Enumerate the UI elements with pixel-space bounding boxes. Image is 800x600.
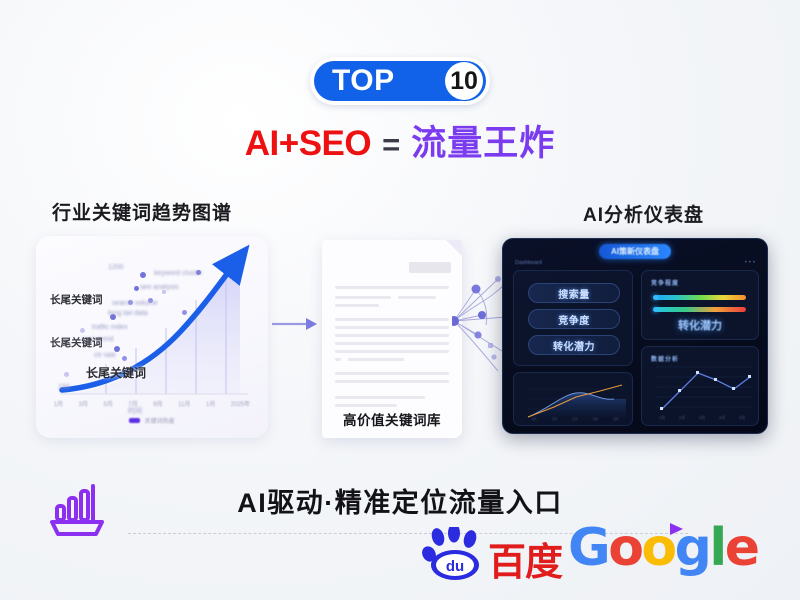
doc-bullet bbox=[335, 358, 341, 361]
scatter-dot bbox=[140, 272, 146, 278]
keyword-label: 长尾关键词 bbox=[50, 335, 103, 350]
dashboard-section-title: AI分析仪表盘 bbox=[583, 200, 704, 227]
x-tick: 5月 bbox=[104, 399, 113, 408]
x-tick: 2025年 bbox=[231, 399, 250, 408]
scatter-dot bbox=[64, 372, 69, 377]
blurred-chart-text: search volume bbox=[112, 300, 158, 307]
google-letter-e: e bbox=[725, 518, 758, 578]
gauge-panel-title: 竞争程度 bbox=[651, 278, 679, 287]
x-tick: 1月 bbox=[54, 399, 63, 408]
gauge-marker-dot bbox=[653, 295, 658, 300]
gauge-marker-dot bbox=[653, 307, 658, 312]
area-chart-panel: Q1 Q2 Q3 Q4 Q5 bbox=[513, 372, 633, 426]
x-tick: 3月 bbox=[699, 415, 705, 421]
blurred-chart-text: 150 bbox=[58, 384, 70, 391]
google-letter-o1: o bbox=[608, 518, 641, 578]
top-badge-number: 10 bbox=[445, 62, 483, 100]
x-tick: Q2 bbox=[552, 416, 557, 421]
top-badge-label: TOP bbox=[332, 66, 395, 96]
doc-text-line bbox=[335, 286, 449, 289]
trend-line-panel: 数据分析 1月 2月 3月 4月 5月 bbox=[641, 346, 759, 426]
competition-gauge-panel: 竞争程度 转化潜力 bbox=[641, 270, 759, 340]
legend-swatch bbox=[129, 418, 140, 423]
doc-text-line bbox=[348, 358, 404, 361]
chart-section-title: 行业关键词趋势图谱 bbox=[52, 198, 232, 225]
chart-x-axis-ticks: 1月 3月 5月 7月 9月 11月 1月 2025年 bbox=[46, 399, 258, 408]
x-tick: 11月 bbox=[178, 399, 190, 408]
blurred-chart-text: 1200 bbox=[108, 264, 124, 271]
metric-buttons-panel: 搜索量 竞争度 转化潜力 bbox=[513, 270, 633, 366]
blurred-chart-text: keyword cluster bbox=[154, 270, 203, 277]
headline: AI+SEO=流量王炸 bbox=[0, 126, 800, 161]
scatter-dot bbox=[122, 356, 127, 361]
x-tick: 9月 bbox=[153, 399, 162, 408]
blurred-chart-text: seo analysis bbox=[140, 284, 179, 291]
scatter-dot bbox=[182, 310, 187, 315]
scatter-dot bbox=[134, 286, 139, 291]
x-tick: Q4 bbox=[593, 416, 598, 421]
keyword-trend-card: keyword cluster seo analysis search volu… bbox=[36, 236, 268, 438]
doc-text-line bbox=[335, 380, 449, 383]
x-tick: 5月 bbox=[739, 415, 745, 421]
x-tick: 2月 bbox=[679, 415, 685, 421]
doc-text-line bbox=[335, 296, 391, 299]
doc-text-line bbox=[335, 334, 449, 337]
google-letter-l: l bbox=[709, 518, 724, 578]
x-tick: 3月 bbox=[79, 399, 88, 408]
keyword-label: 长尾关键词 bbox=[50, 292, 103, 307]
headline-left: AI+SEO bbox=[245, 124, 371, 163]
doc-text-line bbox=[398, 296, 436, 299]
x-tick: 1月 bbox=[206, 399, 215, 408]
metric-button-search-volume[interactable]: 搜索量 bbox=[528, 283, 620, 303]
x-tick: 1月 bbox=[659, 415, 665, 421]
google-logo: Google bbox=[568, 522, 758, 574]
doc-text-line bbox=[335, 342, 449, 345]
doc-text-line bbox=[335, 318, 449, 321]
dashboard-menu-icon[interactable]: ••• bbox=[745, 260, 757, 266]
ai-dashboard: AI策新仪表盘 Dashboard ••• 搜索量 竞争度 转化潜力 竞争程度 … bbox=[502, 238, 768, 434]
baidu-logo: du 百度 bbox=[422, 527, 562, 581]
baidu-paw-icon: du bbox=[422, 527, 486, 581]
x-tick: Q3 bbox=[572, 416, 577, 421]
chart-legend: 关键词热度 bbox=[36, 416, 268, 425]
x-tick: Q5 bbox=[613, 416, 618, 421]
baidu-chinese-text: 百度 bbox=[488, 545, 562, 581]
scatter-dot bbox=[80, 328, 85, 333]
document-label: 高价值关键词库 bbox=[322, 409, 462, 429]
headline-equals: = bbox=[382, 127, 400, 162]
legend-label: 关键词热度 bbox=[144, 416, 174, 425]
play-triangle-icon bbox=[668, 521, 686, 537]
blurred-chart-text: traffic index bbox=[92, 324, 128, 331]
keyword-label: 长尾关键词 bbox=[86, 364, 146, 381]
metric-button-competition[interactable]: 竞争度 bbox=[528, 309, 620, 329]
x-tick: 4月 bbox=[719, 415, 725, 421]
doc-text-line bbox=[335, 372, 449, 375]
google-letter-g1: G bbox=[568, 518, 608, 578]
x-tick: Q1 bbox=[532, 416, 537, 421]
gauge-bar-secondary bbox=[654, 307, 746, 312]
doc-text-line bbox=[335, 404, 397, 407]
doc-text-line bbox=[335, 326, 449, 329]
dashboard-subtitle: Dashboard bbox=[515, 260, 542, 266]
footer-tagline: AI驱动·精准定位流量入口 bbox=[0, 481, 800, 520]
flow-arrow-right-icon bbox=[272, 317, 318, 331]
dashboard-header-badge: AI策新仪表盘 bbox=[599, 244, 671, 259]
line-chart-x-ticks: 1月 2月 3月 4月 5月 bbox=[652, 415, 752, 421]
bar-chart-icon bbox=[46, 482, 108, 540]
baidu-du-text: du bbox=[446, 558, 464, 575]
doc-text-line bbox=[335, 350, 449, 353]
doc-text-line bbox=[335, 304, 379, 307]
headline-right: 流量王炸 bbox=[411, 124, 555, 163]
chart-x-axis-label: 时间 bbox=[128, 406, 142, 416]
area-chart-x-ticks: Q1 Q2 Q3 Q4 Q5 bbox=[524, 416, 626, 421]
page-fold-icon bbox=[446, 240, 462, 256]
doc-header-block bbox=[409, 262, 451, 273]
gauge-bar-primary bbox=[654, 295, 746, 300]
doc-text-line bbox=[335, 396, 425, 399]
top-rank-badge: TOP 10 bbox=[310, 57, 490, 105]
metric-button-conversion-potential[interactable]: 转化潜力 bbox=[528, 335, 620, 355]
blurred-chart-text: long tail data bbox=[108, 310, 148, 317]
keyword-library-document: 高价值关键词库 bbox=[322, 240, 462, 438]
blurred-chart-text: ctr rate bbox=[94, 352, 116, 359]
gauge-overlay-label: 转化潜力 bbox=[642, 317, 758, 333]
